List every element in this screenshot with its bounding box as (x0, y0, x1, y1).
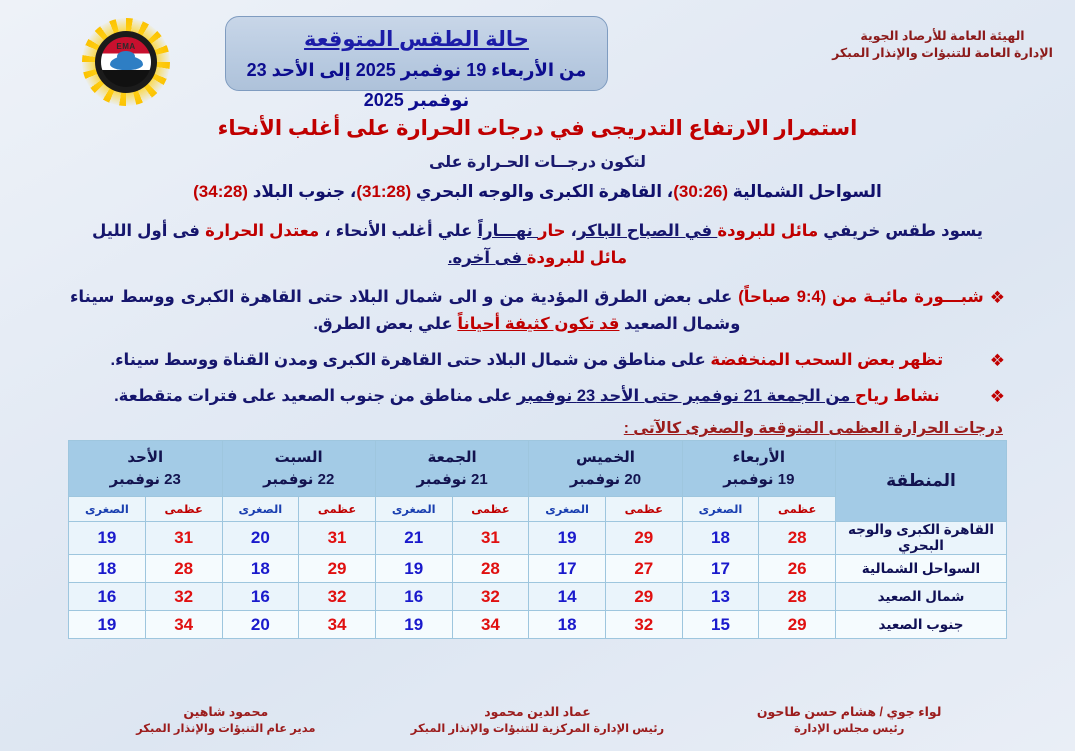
day-date-3: 22 نوفمبر (223, 469, 375, 491)
department-name: الإدارة العامة للتنبؤات والإنذار المبكر (820, 45, 1065, 62)
signature-name-0: لواء جوي / هشام حسن طاحون (693, 704, 1005, 721)
table-row: السواحل الشمالية 26 17 27 17 28 19 29 18… (69, 555, 1007, 583)
para-seg-10: مائل للبرودة (527, 249, 627, 267)
para-seg-6: نهـــاراً (478, 222, 538, 240)
cell-region-1: السواحل الشمالية (836, 555, 1007, 583)
page-header: EMA حالة الطقس المتوقعة من الأربعاء 19 ن… (0, 0, 1075, 105)
table-row: جنوب الصعيد 29 15 32 18 34 19 34 20 34 1… (69, 611, 1007, 639)
cell-region-0: القاهرة الكبرى والوجه البحري (836, 522, 1007, 555)
sub-header-max-1: عظمى (605, 497, 682, 522)
column-header-day-4: الأحد 23 نوفمبر (69, 441, 223, 497)
b3-seg-2: من الجمعة 21 نوفمبر حتى الأحد 23 نوفمبر (517, 387, 855, 405)
cell-min-3-4: 19 (69, 611, 146, 639)
column-header-day-2: الجمعة 21 نوفمبر (375, 441, 528, 497)
temperature-ranges: السواحل الشمالية (30:26)، القاهرة الكبرى… (0, 179, 1075, 204)
list-item: ❖ نشاط رياح من الجمعة 21 نوفمبر حتى الأح… (70, 383, 1005, 410)
signature-name-2: محمود شاهين (70, 704, 382, 721)
day-date-1: 20 نوفمبر (529, 469, 681, 491)
cell-max-3-2: 34 (452, 611, 529, 639)
emblem-circle: EMA (95, 31, 157, 93)
date-range: من الأربعاء 19 نوفمبر 2025 إلى الأحد 23 … (226, 55, 607, 115)
range-cairo-label: القاهرة الكبرى والوجه البحري (416, 182, 662, 201)
cell-min-2-3: 16 (222, 583, 299, 611)
cell-min-2-1: 14 (529, 583, 606, 611)
signature-central-head: عماد الدين محمود رئيس الإدارة المركزية ل… (382, 704, 694, 737)
sub-header-min-3: الصغرى (222, 497, 299, 522)
list-item: ❖ تظهر بعض السحب المنخفضة على مناطق من ش… (70, 347, 1005, 374)
cell-region-2: شمال الصعيد (836, 583, 1007, 611)
sub-header-max-3: عظمى (299, 497, 376, 522)
para-seg-1: يسود طقس خريفي (818, 222, 983, 240)
b1-seg-3: قد تكون كثيفة أحياناً (457, 315, 619, 333)
cell-max-1-0: 26 (759, 555, 836, 583)
weather-bulletin-page: EMA حالة الطقس المتوقعة من الأربعاء 19 ن… (0, 0, 1075, 751)
egypt-flag-icon: EMA (101, 37, 151, 87)
main-headline: استمرار الارتفاع التدريجى في درجات الحرا… (0, 115, 1075, 143)
signature-role-0: رئيس مجلس الإدارة (693, 721, 1005, 737)
day-date-2: 21 نوفمبر (376, 469, 528, 491)
cell-max-2-3: 32 (299, 583, 376, 611)
day-name-2: الجمعة (376, 447, 528, 469)
para-seg-8: معتدل الحرارة (205, 222, 319, 240)
cell-max-1-2: 28 (452, 555, 529, 583)
emblem-label: EMA (101, 42, 151, 51)
bullet-diamond-icon: ❖ (990, 284, 1005, 311)
bullet-list: ❖ شبـــورة مائيـة من (9:4 صباحاً) على بع… (70, 284, 1005, 410)
sub-header-min-0: الصغرى (682, 497, 759, 522)
table-head-row-days: المنطقة الأربعاء 19 نوفمبر الخميس 20 نوف… (69, 441, 1007, 497)
cell-max-2-1: 29 (605, 583, 682, 611)
cell-min-1-3: 18 (222, 555, 299, 583)
cell-max-0-0: 28 (759, 522, 836, 555)
cell-max-0-4: 31 (145, 522, 222, 555)
sub-header-min-1: الصغرى (529, 497, 606, 522)
signature-board-chairman: لواء جوي / هشام حسن طاحون رئيس مجلس الإد… (693, 704, 1005, 737)
cell-min-3-2: 19 (375, 611, 452, 639)
cell-max-0-2: 31 (452, 522, 529, 555)
cell-min-1-1: 17 (529, 555, 606, 583)
day-name-3: السبت (223, 447, 375, 469)
title-box: حالة الطقس المتوقعة من الأربعاء 19 نوفمب… (225, 16, 608, 91)
sub-header-max-2: عظمى (452, 497, 529, 522)
para-seg-3: في الصباح الباكر (577, 222, 717, 240)
cloud-icon (110, 56, 143, 70)
page-title: حالة الطقس المتوقعة (226, 25, 607, 55)
cell-min-0-3: 20 (222, 522, 299, 555)
range-coast-value: (30:26) (673, 182, 728, 201)
table-row: شمال الصعيد 28 13 29 14 32 16 32 16 32 1… (69, 583, 1007, 611)
cell-min-0-4: 19 (69, 522, 146, 555)
bullet-text-2: تظهر بعض السحب المنخفضة على مناطق من شما… (70, 347, 984, 374)
forecast-paragraph: يسود طقس خريفي مائل للبرودة في الصباح ال… (92, 218, 983, 272)
cell-min-0-0: 18 (682, 522, 759, 555)
cell-max-1-4: 28 (145, 555, 222, 583)
range-coast-label: السواحل الشمالية (733, 182, 882, 201)
cell-max-2-0: 28 (759, 583, 836, 611)
column-header-day-1: الخميس 20 نوفمبر (529, 441, 682, 497)
day-name-0: الأربعاء (683, 447, 835, 469)
day-name-1: الخميس (529, 447, 681, 469)
cell-max-1-3: 29 (299, 555, 376, 583)
list-item: ❖ شبـــورة مائيـة من (9:4 صباحاً) على بع… (70, 284, 1005, 338)
table-head: المنطقة الأربعاء 19 نوفمبر الخميس 20 نوف… (69, 441, 1007, 522)
cell-min-2-2: 16 (375, 583, 452, 611)
range-south-value: (34:28) (193, 182, 248, 201)
day-date-4: 23 نوفمبر (69, 469, 222, 491)
b3-seg-4: على مناطق من جنوب الصعيد على فترات متقطع… (114, 387, 517, 405)
cell-max-3-0: 29 (759, 611, 836, 639)
b3-seg-1: نشاط رياح (855, 387, 940, 405)
sub-headline: لتكون درجــات الحـرارة على (0, 151, 1075, 175)
cell-max-0-3: 31 (299, 522, 376, 555)
day-date-0: 19 نوفمبر (683, 469, 835, 491)
sub-header-max-4: عظمى (145, 497, 222, 522)
para-seg-11: فى آخره. (448, 249, 527, 267)
signature-role-2: مدير عام التنبؤات والإنذار المبكر (70, 721, 382, 737)
cell-min-3-1: 18 (529, 611, 606, 639)
range-south-label: جنوب البلاد (253, 182, 345, 201)
organization-block: الهيئة العامة للأرصاد الجوية الإدارة الع… (820, 28, 1065, 62)
table-caption: درجات الحرارة العظمى المتوقعة والصغرى كا… (0, 419, 1007, 438)
cell-min-3-3: 20 (222, 611, 299, 639)
temperature-table: المنطقة الأربعاء 19 نوفمبر الخميس 20 نوف… (68, 440, 1007, 639)
cell-min-2-0: 13 (682, 583, 759, 611)
cell-min-1-2: 19 (375, 555, 452, 583)
cell-min-1-0: 17 (682, 555, 759, 583)
cell-max-3-1: 32 (605, 611, 682, 639)
column-header-day-3: السبت 22 نوفمبر (222, 441, 375, 497)
cell-max-0-1: 29 (605, 522, 682, 555)
cell-min-2-4: 16 (69, 583, 146, 611)
ema-logo: EMA (82, 18, 170, 106)
b1-seg-4: علي بعض الطرق. (313, 315, 457, 333)
bullet-text-3: نشاط رياح من الجمعة 21 نوفمبر حتى الأحد … (70, 383, 984, 410)
cell-max-2-4: 32 (145, 583, 222, 611)
cell-max-3-3: 34 (299, 611, 376, 639)
para-seg-2: مائل للبرودة (717, 222, 818, 240)
bullet-diamond-icon: ❖ (990, 383, 1005, 410)
b2-seg-1: تظهر بعض السحب المنخفضة (710, 351, 943, 369)
cell-min-1-4: 18 (69, 555, 146, 583)
temperature-table-wrap: المنطقة الأربعاء 19 نوفمبر الخميس 20 نوف… (68, 440, 1007, 639)
bullet-diamond-icon: ❖ (990, 347, 1005, 374)
sub-header-max-0: عظمى (759, 497, 836, 522)
table-row: القاهرة الكبرى والوجه البحري 28 18 29 19… (69, 522, 1007, 555)
b1-seg-1: شبـــورة مائيـة من (9:4 صباحاً) (738, 288, 983, 306)
cell-max-2-2: 32 (452, 583, 529, 611)
page-footer: لواء جوي / هشام حسن طاحون رئيس مجلس الإد… (0, 704, 1075, 737)
organization-name: الهيئة العامة للأرصاد الجوية (820, 28, 1065, 45)
cell-region-3: جنوب الصعيد (836, 611, 1007, 639)
table-body: القاهرة الكبرى والوجه البحري 28 18 29 19… (69, 522, 1007, 639)
cell-max-3-4: 34 (145, 611, 222, 639)
bullet-text-1: شبـــورة مائيـة من (9:4 صباحاً) على بعض … (70, 284, 984, 338)
column-header-day-0: الأربعاء 19 نوفمبر (682, 441, 835, 497)
para-seg-9: فى أول الليل (92, 222, 205, 240)
cell-min-0-1: 19 (529, 522, 606, 555)
signature-name-1: عماد الدين محمود (382, 704, 694, 721)
b2-seg-2: على مناطق من شمال البلاد حتى القاهرة الك… (111, 351, 711, 369)
cell-min-3-0: 15 (682, 611, 759, 639)
sep1: ، (662, 182, 673, 201)
signature-role-1: رئيس الإدارة المركزية للتنبؤات والإنذار … (382, 721, 694, 737)
cell-max-1-1: 27 (605, 555, 682, 583)
sub-header-min-2: الصغرى (375, 497, 452, 522)
para-seg-5: حار (538, 222, 566, 240)
sep2: ، (345, 182, 356, 201)
column-header-region: المنطقة (836, 441, 1007, 522)
sub-header-min-4: الصغرى (69, 497, 146, 522)
signature-general-manager: محمود شاهين مدير عام التنبؤات والإنذار ا… (70, 704, 382, 737)
para-seg-7: علي أغلب الأنحاء ، (319, 222, 477, 240)
range-cairo-value: (31:28) (356, 182, 411, 201)
para-seg-4: ، (566, 222, 577, 240)
day-name-4: الأحد (69, 447, 222, 469)
cell-min-0-2: 21 (375, 522, 452, 555)
